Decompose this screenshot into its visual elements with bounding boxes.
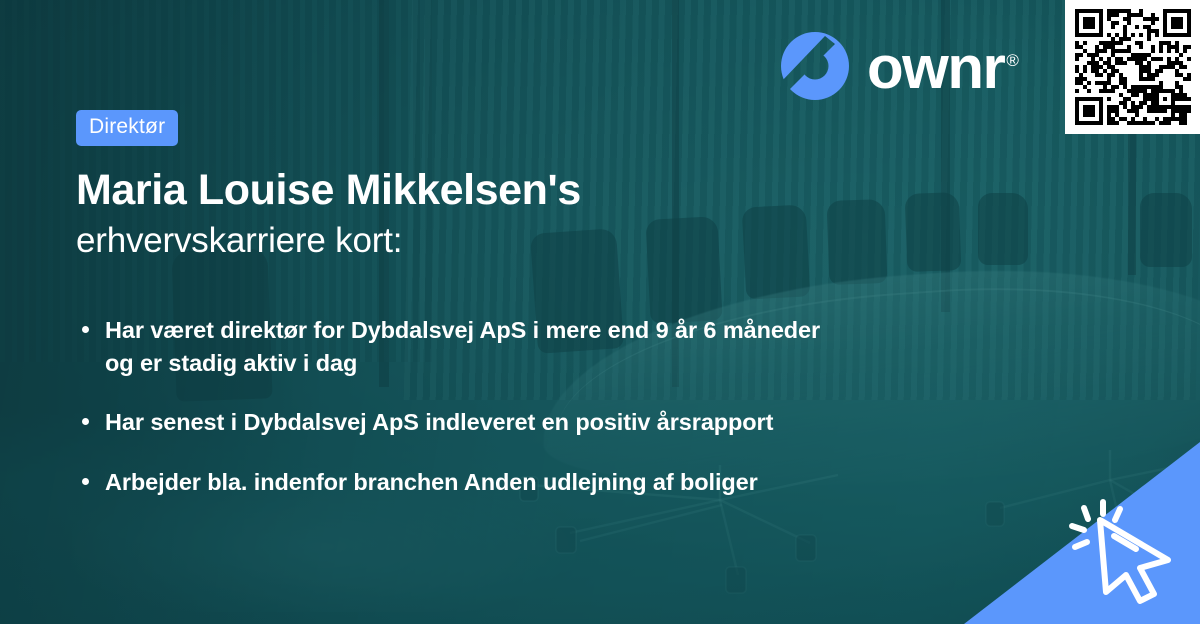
list-item: Har senest i Dybdalsvej ApS indleveret e… — [76, 406, 821, 439]
list-item: Har været direktør for Dybdalsvej ApS i … — [76, 314, 821, 381]
qr-code-panel[interactable] — [1065, 0, 1200, 134]
ownr-circular-logo-icon — [779, 30, 851, 102]
page-title: Maria Louise Mikkelsen's — [76, 165, 936, 216]
ownr-logo: ownr® — [779, 30, 1015, 102]
page-subtitle: erhvervskarriere kort: — [76, 220, 936, 262]
career-bullet-list: Har været direktør for Dybdalsvej ApS i … — [76, 314, 936, 499]
card-content: Direktør Maria Louise Mikkelsen's erhver… — [76, 110, 936, 499]
ownr-wordmark: ownr® — [867, 38, 1015, 98]
qr-code[interactable] — [1075, 9, 1191, 125]
role-badge: Direktør — [76, 110, 178, 146]
career-summary-card: ownr® Direktør Maria Louise Mikkelsen's … — [0, 0, 1200, 624]
click-cursor-icon — [1058, 492, 1184, 608]
registered-trademark-icon: ® — [1006, 51, 1017, 70]
list-item: Arbejder bla. indenfor branchen Anden ud… — [76, 466, 821, 499]
ownr-wordmark-text: ownr — [867, 34, 1004, 101]
